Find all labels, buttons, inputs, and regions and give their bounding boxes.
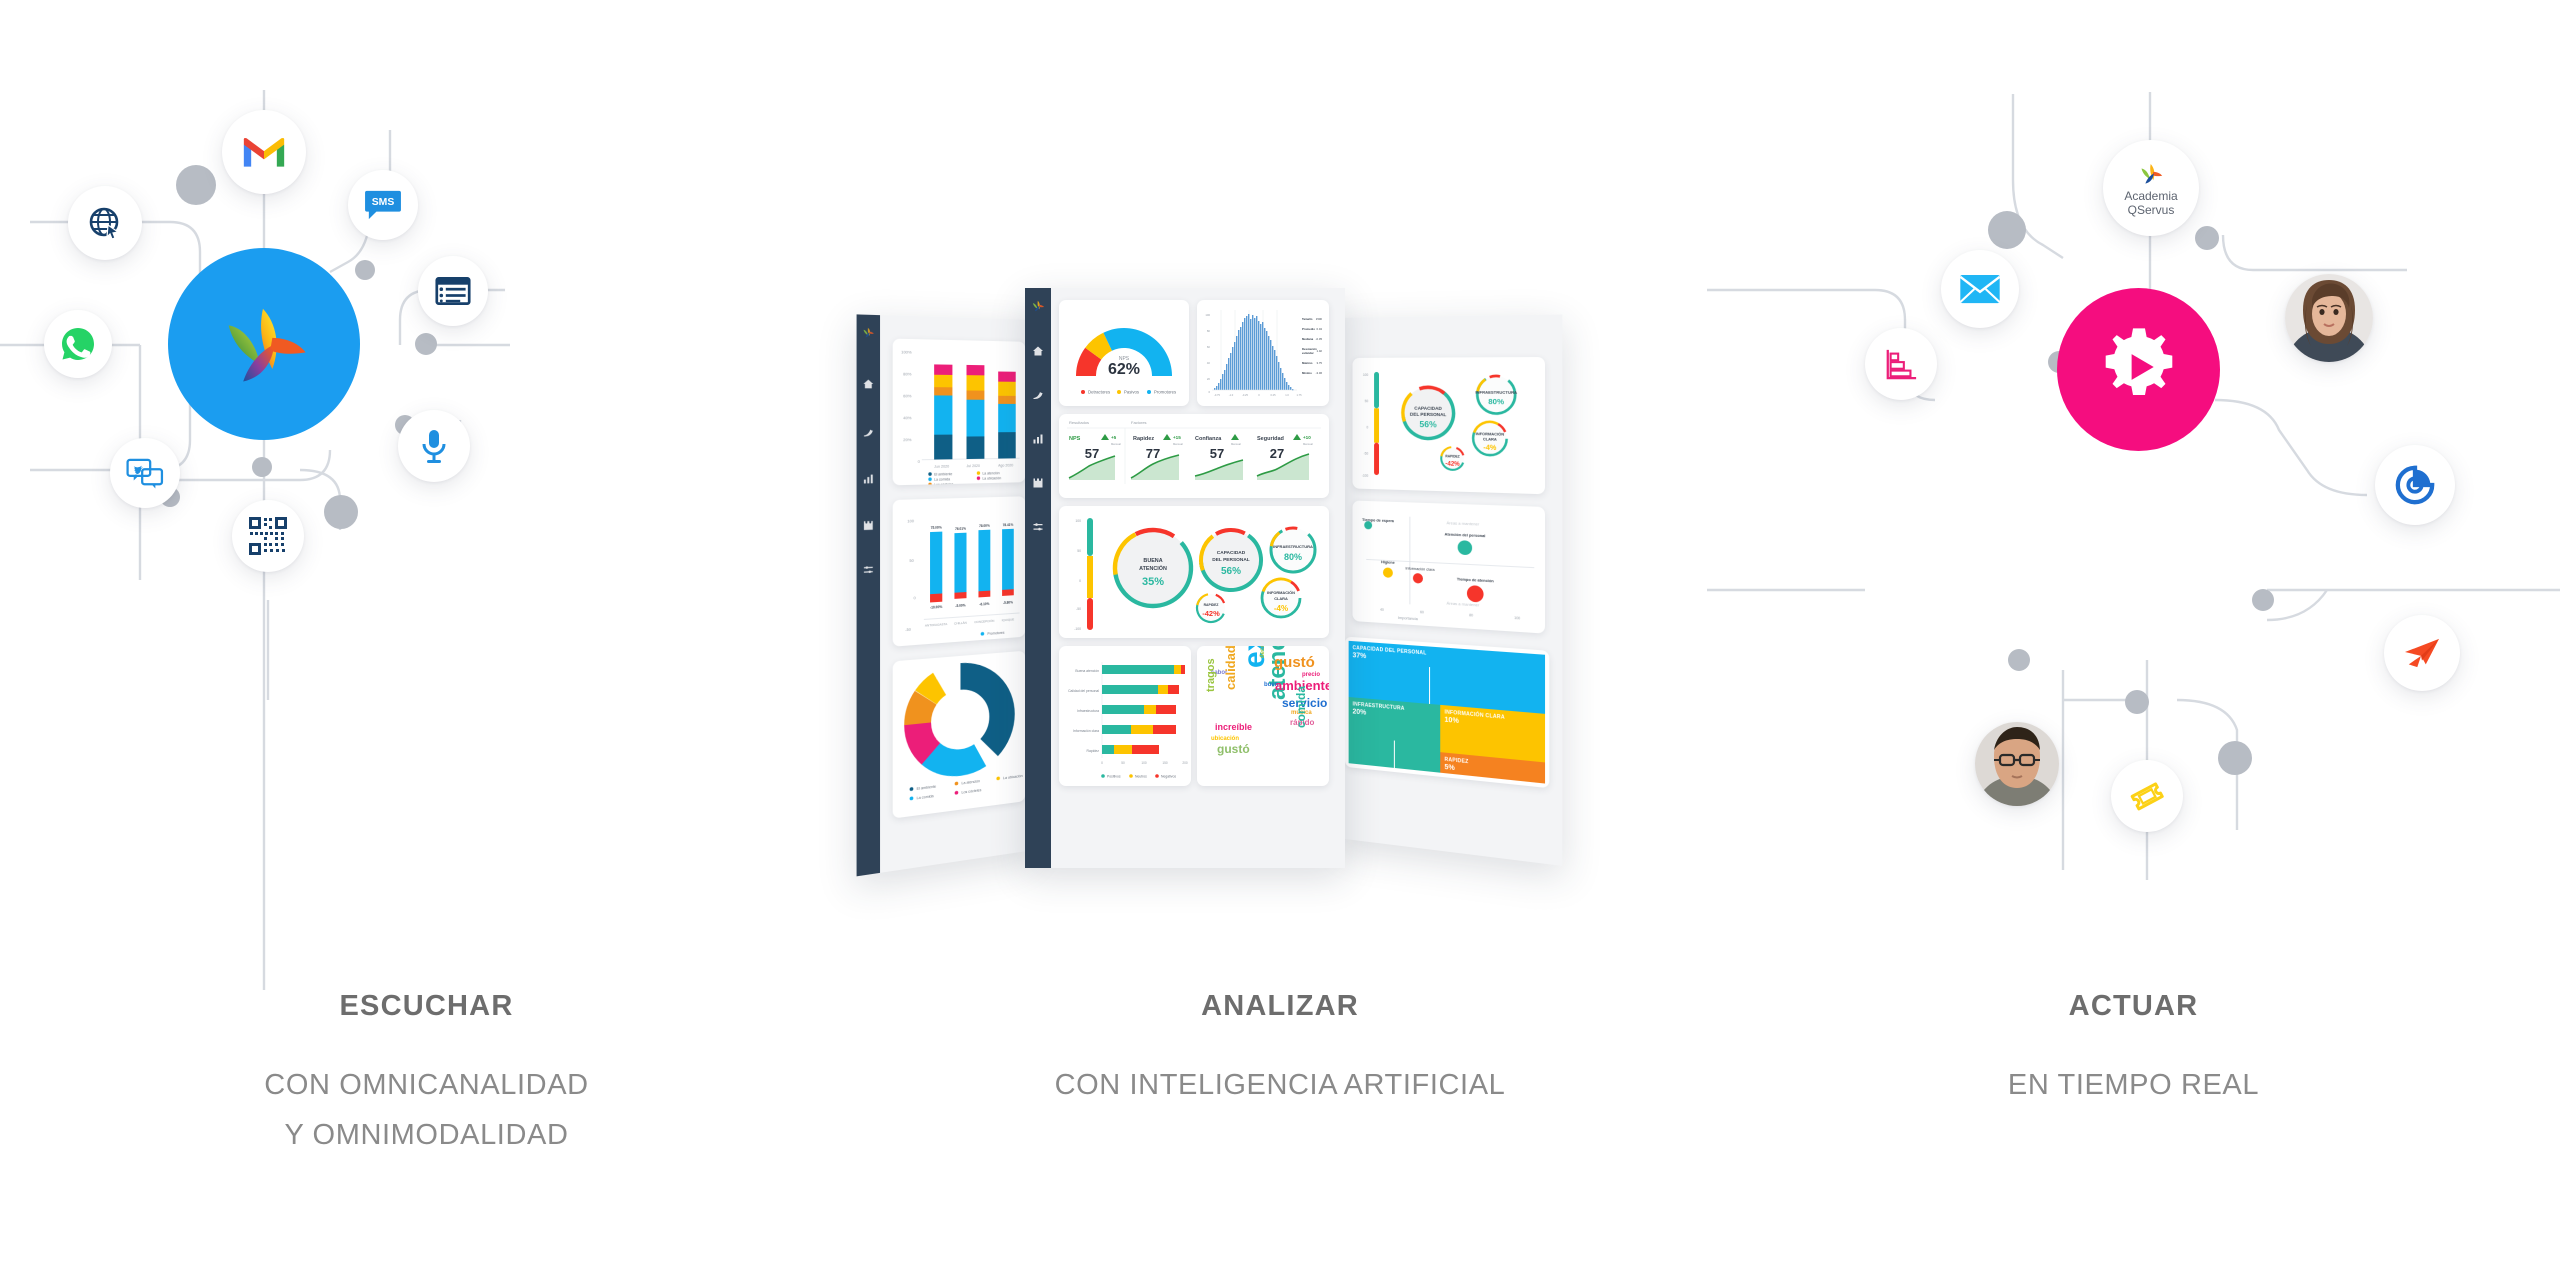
avatar	[1975, 722, 2059, 806]
svg-text:60%: 60%	[903, 393, 912, 398]
svg-text:3.75: 3.75	[1317, 361, 1323, 365]
wordcloud-word: gustó	[1274, 654, 1315, 671]
svg-text:Positivos: Positivos	[1107, 774, 1121, 778]
svg-text:-10.00%: -10.00%	[930, 605, 942, 610]
svg-text:100: 100	[1363, 373, 1368, 377]
sentiment-bar-chart: Buena atención Calidad del personal Infr…	[1059, 646, 1191, 786]
svg-text:Infraestructura: Infraestructura	[1077, 709, 1099, 713]
svg-text:Atención del personal: Atención del personal	[1445, 532, 1486, 538]
svg-text:Importancia: Importancia	[1398, 616, 1419, 621]
svg-text:62%: 62%	[1108, 361, 1140, 378]
caption-analizar-line1: CON INTELIGENCIA ARTIFICIAL	[853, 1060, 1707, 1110]
svg-text:80%: 80%	[1284, 552, 1302, 562]
svg-text:40%: 40%	[903, 415, 912, 420]
gear-play-icon	[2093, 321, 2185, 418]
dashboard-panel-left: 100%80%60% 40%20%0	[857, 314, 1034, 876]
svg-text:50: 50	[909, 559, 913, 563]
caption-escuchar-line1: CON OMNICANALIDAD	[0, 1060, 853, 1110]
svg-text:Factores: Factores	[1131, 420, 1147, 425]
node-whatsapp[interactable]	[44, 310, 112, 378]
scatter-quadrant-chart: Áreas a mantener Áreas a mantener Atenci…	[1353, 501, 1546, 634]
svg-text:100: 100	[1205, 313, 1210, 317]
pie-chart-icon	[2394, 464, 2436, 506]
caption-actuar: EN TIEMPO REAL	[1707, 1060, 2560, 1110]
node-bar-steps[interactable]	[1865, 328, 1937, 400]
card-histogram: 1008060 40200	[1197, 300, 1329, 406]
card-donut: El ambiente La comida La atención Los có…	[893, 651, 1026, 819]
svg-text:-0.25: -0.25	[1242, 393, 1248, 397]
svg-text:estándar: estándar	[1302, 351, 1315, 355]
svg-text:Neutros: Neutros	[1135, 774, 1147, 778]
svg-text:-5.00%: -5.00%	[955, 603, 965, 608]
kpi-row: Resultados Factores NPS +5 Mensual 57	[1059, 414, 1329, 498]
svg-text:La comida: La comida	[917, 794, 934, 800]
qr-code-icon	[248, 516, 288, 556]
svg-text:40: 40	[1207, 361, 1211, 365]
bar-steps-icon	[1884, 347, 1918, 381]
svg-text:50: 50	[1121, 761, 1125, 765]
svg-text:-0.05: -0.05	[1316, 337, 1323, 341]
svg-text:40: 40	[1380, 608, 1384, 612]
node-avatar-man[interactable]	[1975, 722, 2059, 806]
svg-text:50: 50	[1365, 399, 1369, 403]
svg-text:Los cócteles: Los cócteles	[961, 788, 981, 795]
svg-text:CAPACIDAD: CAPACIDAD	[1217, 550, 1246, 556]
svg-text:-50: -50	[1076, 607, 1081, 611]
twitter-chat-icon	[126, 457, 164, 489]
donut-chart: El ambiente La comida La atención Los có…	[893, 651, 1026, 819]
svg-text:Confianza: Confianza	[1195, 436, 1222, 442]
sliders-icon[interactable]	[1032, 520, 1044, 538]
svg-text:-42%: -42%	[1202, 609, 1220, 618]
svg-text:INFORMACIÓN: INFORMACIÓN	[1267, 590, 1295, 595]
node-gmail[interactable]	[222, 110, 306, 194]
bar-chart-icon[interactable]	[1032, 432, 1044, 450]
svg-text:Seguridad: Seguridad	[1257, 436, 1284, 442]
qservus-bird-logo	[861, 325, 875, 344]
caption-analizar: CON INTELIGENCIA ARTIFICIAL	[853, 1060, 1707, 1110]
node-pie-chart[interactable]	[2375, 445, 2455, 525]
card-nps-gauge: NPS 62% Detractores Pasivos Promotores	[1059, 300, 1189, 406]
ticket-icon	[2130, 779, 2164, 813]
svg-text:78.00%: 78.00%	[979, 524, 990, 528]
svg-text:NPS: NPS	[1069, 436, 1081, 442]
svg-text:78.41%: 78.41%	[1003, 523, 1014, 527]
svg-text:Mediana: Mediana	[1302, 337, 1314, 341]
home-icon[interactable]	[1032, 344, 1044, 362]
svg-text:60: 60	[1207, 345, 1211, 349]
caption-escuchar-line2: Y OMNIMODALIDAD	[0, 1110, 853, 1160]
svg-text:80: 80	[1207, 329, 1211, 333]
svg-text:-5.80%: -5.80%	[1003, 600, 1013, 605]
hub-actuar	[2057, 288, 2220, 451]
dashboard-panel-right: 100500-50-100 CAPACIDAD DEL PERSONAL	[1337, 315, 1562, 866]
dashboard-panel-front: NPS 62% Detractores Pasivos Promotores	[1025, 288, 1345, 868]
svg-text:DEL PERSONAL: DEL PERSONAL	[1410, 412, 1447, 418]
svg-text:1.0: 1.0	[1285, 393, 1289, 397]
svg-text:Mensual: Mensual	[1173, 442, 1183, 446]
svg-text:Los cócteles: Los cócteles	[934, 482, 953, 485]
svg-text:-50: -50	[905, 628, 911, 633]
column-escuchar: SMS	[0, 0, 853, 1280]
web-survey-icon	[435, 276, 471, 306]
whatsapp-icon	[58, 324, 98, 364]
svg-text:ATENCIÓN: ATENCIÓN	[1139, 564, 1167, 572]
svg-text:La ubicación: La ubicación	[1003, 774, 1023, 780]
svg-text:0.25: 0.25	[1270, 393, 1276, 397]
hub-escuchar	[168, 248, 360, 440]
globe-cursor-icon	[87, 205, 123, 241]
svg-text:0: 0	[1258, 393, 1260, 397]
node-sms[interactable]: SMS	[348, 170, 418, 240]
svg-text:Detractores: Detractores	[1088, 390, 1110, 395]
paper-plane-icon	[2403, 636, 2441, 670]
svg-text:RAPIDEZ: RAPIDEZ	[1445, 454, 1459, 458]
card-sentiment-bars: Buena atención Calidad del personal Infr…	[1059, 646, 1191, 786]
svg-text:El ambiente: El ambiente	[934, 472, 952, 476]
svg-text:0: 0	[1366, 425, 1368, 429]
infographic-stage: SMS	[0, 0, 2560, 1280]
card-scatter: Áreas a mantener Áreas a mantener Atenci…	[1353, 501, 1546, 634]
svg-text:-100: -100	[1074, 627, 1081, 631]
dashboard-sidebar-left	[857, 314, 880, 876]
svg-text:75.00%: 75.00%	[931, 525, 942, 530]
card-wordcloud: sabor tragos calidad excelente atención …	[1197, 646, 1329, 786]
svg-text:RAPIDEZ: RAPIDEZ	[1204, 603, 1219, 607]
svg-text:80%: 80%	[1488, 397, 1504, 407]
svg-text:27: 27	[1270, 446, 1284, 461]
home-icon[interactable]	[862, 376, 874, 395]
svg-text:-1.0: -1.0	[1229, 393, 1234, 397]
svg-text:100: 100	[1514, 616, 1520, 621]
svg-text:IQUIQUE: IQUIQUE	[1002, 617, 1014, 622]
svg-text:76.01%: 76.01%	[955, 527, 966, 531]
caption-escuchar: CON OMNICANALIDAD Y OMNIMODALIDAD	[0, 1060, 853, 1160]
card-rings-front: 100500-50-100 BUENA ATENCIÓN 35%	[1059, 506, 1329, 638]
card-treemap: CAPACIDAD DEL PERSONAL 37% INFRAESTRUCTU…	[1345, 637, 1550, 789]
page-title-actuar: ACTUAR	[1707, 990, 2560, 1023]
svg-text:CLARA: CLARA	[1274, 596, 1288, 601]
svg-text:Promotores: Promotores	[987, 631, 1004, 636]
svg-text:Promotores: Promotores	[1154, 390, 1176, 395]
treemap-cell	[1395, 741, 1440, 773]
svg-text:0: 0	[918, 459, 921, 464]
svg-text:150: 150	[1162, 761, 1168, 765]
svg-text:INFRAESTRUCTURA: INFRAESTRUCTURA	[1475, 389, 1517, 394]
svg-text:0: 0	[1208, 390, 1210, 394]
svg-text:100: 100	[1141, 761, 1147, 765]
svg-text:Información clara: Información clara	[1073, 729, 1099, 733]
svg-text:Mensual: Mensual	[1111, 442, 1121, 446]
svg-text:Negativos: Negativos	[1161, 774, 1176, 778]
envelope-icon	[1959, 274, 2001, 304]
microphone-icon	[420, 428, 448, 464]
column-actuar: Academia QServus	[1707, 0, 2560, 1280]
academia-qservus-label-line1: Academia	[2124, 189, 2177, 203]
sms-icon: SMS	[364, 188, 402, 222]
svg-text:La ubicación: La ubicación	[982, 476, 1001, 480]
wordcloud-word: decorado	[1260, 646, 1266, 658]
svg-text:El ambiente: El ambiente	[917, 784, 936, 791]
svg-text:-50: -50	[1364, 451, 1369, 455]
wordcloud-chart: sabor tragos calidad excelente atención …	[1197, 646, 1329, 786]
svg-text:+10: +10	[1303, 435, 1311, 440]
svg-text:DEL PERSONAL: DEL PERSONAL	[1212, 557, 1250, 563]
svg-text:77: 77	[1146, 446, 1160, 461]
svg-text:35%: 35%	[1142, 576, 1164, 588]
svg-text:CAPACIDAD: CAPACIDAD	[1414, 406, 1442, 411]
treemap-cell	[1349, 736, 1394, 768]
svg-text:Jun 2020: Jun 2020	[934, 464, 949, 468]
svg-text:CHILLÁN: CHILLÁN	[954, 621, 967, 626]
svg-text:CLARA: CLARA	[1483, 437, 1497, 441]
svg-text:56%: 56%	[1419, 419, 1437, 430]
svg-text:+5: +5	[1111, 435, 1117, 440]
wordcloud-word: tragos	[1205, 658, 1217, 692]
wordcloud-word: increíble	[1215, 722, 1252, 732]
caption-actuar-line1: EN TIEMPO REAL	[1707, 1060, 2560, 1110]
svg-text:La atención: La atención	[982, 471, 999, 475]
svg-text:80: 80	[1469, 613, 1473, 617]
nps-gauge: NPS 62% Detractores Pasivos Promotores	[1059, 300, 1189, 406]
svg-text:1500: 1500	[1316, 317, 1323, 321]
svg-text:60: 60	[1420, 610, 1424, 614]
svg-text:1.75: 1.75	[1296, 393, 1302, 397]
dashboard-sidebar-front	[1025, 288, 1051, 868]
svg-text:SMS: SMS	[372, 197, 395, 208]
city-promoters-chart: 100500-50 75.00%76.01%78.00%78.41% -10.0…	[893, 496, 1026, 646]
svg-text:Pasivos: Pasivos	[1124, 390, 1139, 395]
bird-icon[interactable]	[1032, 388, 1044, 406]
svg-text:ANTOFAGASTA: ANTOFAGASTA	[925, 622, 947, 628]
card-kpi-row: Resultados Factores NPS +5 Mensual 57	[1059, 414, 1329, 498]
qservus-bird-logo	[1031, 298, 1046, 318]
svg-text:-100: -100	[1362, 474, 1368, 478]
puzzle-icon[interactable]	[1032, 476, 1044, 494]
svg-text:Higiene: Higiene	[1381, 560, 1395, 565]
avatar	[2285, 274, 2373, 362]
svg-text:-3.06: -3.06	[1316, 371, 1323, 375]
svg-text:La comida: La comida	[934, 477, 950, 481]
svg-text:BUENA: BUENA	[1143, 558, 1162, 564]
node-web-survey[interactable]	[418, 256, 488, 326]
histogram-chart: 1008060 40200	[1197, 300, 1329, 406]
svg-text:+15: +15	[1173, 435, 1181, 440]
svg-text:Rapidez: Rapidez	[1133, 436, 1154, 442]
stacked-monthly-chart: 100%80%60% 40%20%0	[893, 339, 1026, 486]
card-city-chart: 100500-50 75.00%76.01%78.00%78.41% -10.0…	[893, 496, 1026, 646]
svg-text:Tamaño: Tamaño	[1302, 317, 1313, 321]
bird-icon[interactable]	[862, 425, 874, 444]
svg-text:57: 57	[1085, 446, 1099, 461]
svg-text:INFORMACIÓN: INFORMACIÓN	[1476, 431, 1505, 437]
svg-text:57: 57	[1210, 446, 1224, 461]
svg-text:1.02: 1.02	[1317, 349, 1323, 353]
svg-text:-4%: -4%	[1483, 445, 1496, 453]
rings-chart-front: 100500-50-100 BUENA ATENCIÓN 35%	[1059, 506, 1329, 638]
card-stacked-monthly: 100%80%60% 40%20%0	[893, 339, 1026, 486]
svg-text:0.04: 0.04	[1317, 327, 1323, 331]
node-ticket[interactable]	[2111, 760, 2183, 832]
svg-text:Ago 2020: Ago 2020	[998, 463, 1013, 467]
svg-text:-4%: -4%	[1274, 604, 1288, 613]
column-analizar: 100%80%60% 40%20%0	[853, 0, 1707, 1280]
svg-text:Mensual: Mensual	[1231, 442, 1241, 446]
svg-text:Mínimo: Mínimo	[1302, 371, 1312, 375]
svg-text:-6.10%: -6.10%	[979, 602, 989, 607]
node-globe-cursor[interactable]	[68, 186, 142, 260]
svg-text:0: 0	[1101, 761, 1103, 765]
svg-text:0: 0	[914, 596, 916, 600]
puzzle-icon[interactable]	[862, 517, 874, 536]
svg-text:CONCEPCIÓN: CONCEPCIÓN	[974, 618, 994, 624]
academia-qservus-label: Academia QServus	[2124, 189, 2177, 217]
wordcloud-word: comida	[1294, 686, 1308, 728]
bar-chart-icon[interactable]	[862, 471, 874, 490]
svg-text:Tiempo de atención: Tiempo de atención	[1457, 577, 1495, 583]
svg-text:56%: 56%	[1221, 566, 1241, 577]
wordcloud-word: gustó	[1217, 742, 1250, 756]
sliders-icon[interactable]	[862, 562, 874, 582]
svg-text:0: 0	[1079, 579, 1081, 583]
node-twitter-chat[interactable]	[110, 438, 180, 508]
svg-text:Máximo: Máximo	[1302, 361, 1313, 365]
node-microphone[interactable]	[398, 410, 470, 482]
svg-text:50: 50	[1077, 549, 1081, 553]
node-qr-code[interactable]	[232, 500, 304, 572]
treemap-chart: CAPACIDAD DEL PERSONAL 37% INFRAESTRUCTU…	[1349, 641, 1545, 784]
svg-text:80%: 80%	[903, 371, 912, 376]
node-academia-qservus[interactable]: Academia QServus	[2103, 140, 2199, 236]
svg-text:-42%: -42%	[1445, 461, 1460, 468]
svg-text:100%: 100%	[901, 349, 912, 354]
card-rings-right: 100500-50-100 CAPACIDAD DEL PERSONAL	[1353, 357, 1546, 494]
svg-text:Jul 2020: Jul 2020	[967, 464, 981, 468]
svg-text:-0.75: -0.75	[1214, 393, 1220, 397]
rings-chart-right: 100500-50-100 CAPACIDAD DEL PERSONAL	[1353, 357, 1546, 494]
svg-text:Mensual: Mensual	[1303, 442, 1313, 446]
svg-text:100: 100	[907, 519, 914, 523]
page-title-analizar: ANALIZAR	[853, 990, 1707, 1023]
node-envelope[interactable]	[1941, 250, 2019, 328]
wordcloud-word: calidad	[1223, 646, 1238, 690]
qservus-bird-logo	[212, 290, 316, 399]
svg-text:Rapidez: Rapidez	[1087, 749, 1100, 753]
svg-text:INFRAESTRUCTURA: INFRAESTRUCTURA	[1273, 544, 1313, 549]
node-paper-plane[interactable]	[2384, 615, 2460, 691]
academia-qservus-label-line2: QServus	[2124, 203, 2177, 217]
svg-text:20: 20	[1207, 377, 1211, 381]
svg-text:Promedio: Promedio	[1302, 327, 1315, 331]
svg-text:200: 200	[1182, 761, 1188, 765]
svg-text:Buena atención: Buena atención	[1075, 669, 1099, 673]
svg-text:Calidad del personal: Calidad del personal	[1068, 689, 1099, 693]
svg-text:100: 100	[1075, 519, 1081, 523]
svg-text:Resultados: Resultados	[1069, 420, 1089, 425]
svg-text:20%: 20%	[903, 437, 912, 442]
node-avatar-woman[interactable]	[2285, 274, 2373, 362]
svg-text:Áreas a mantener: Áreas a mantener	[1447, 520, 1480, 527]
qservus-bird-logo	[2137, 159, 2165, 187]
gmail-icon	[242, 135, 286, 169]
svg-text:La atención: La atención	[961, 779, 980, 785]
page-title-escuchar: ESCUCHAR	[0, 990, 853, 1023]
